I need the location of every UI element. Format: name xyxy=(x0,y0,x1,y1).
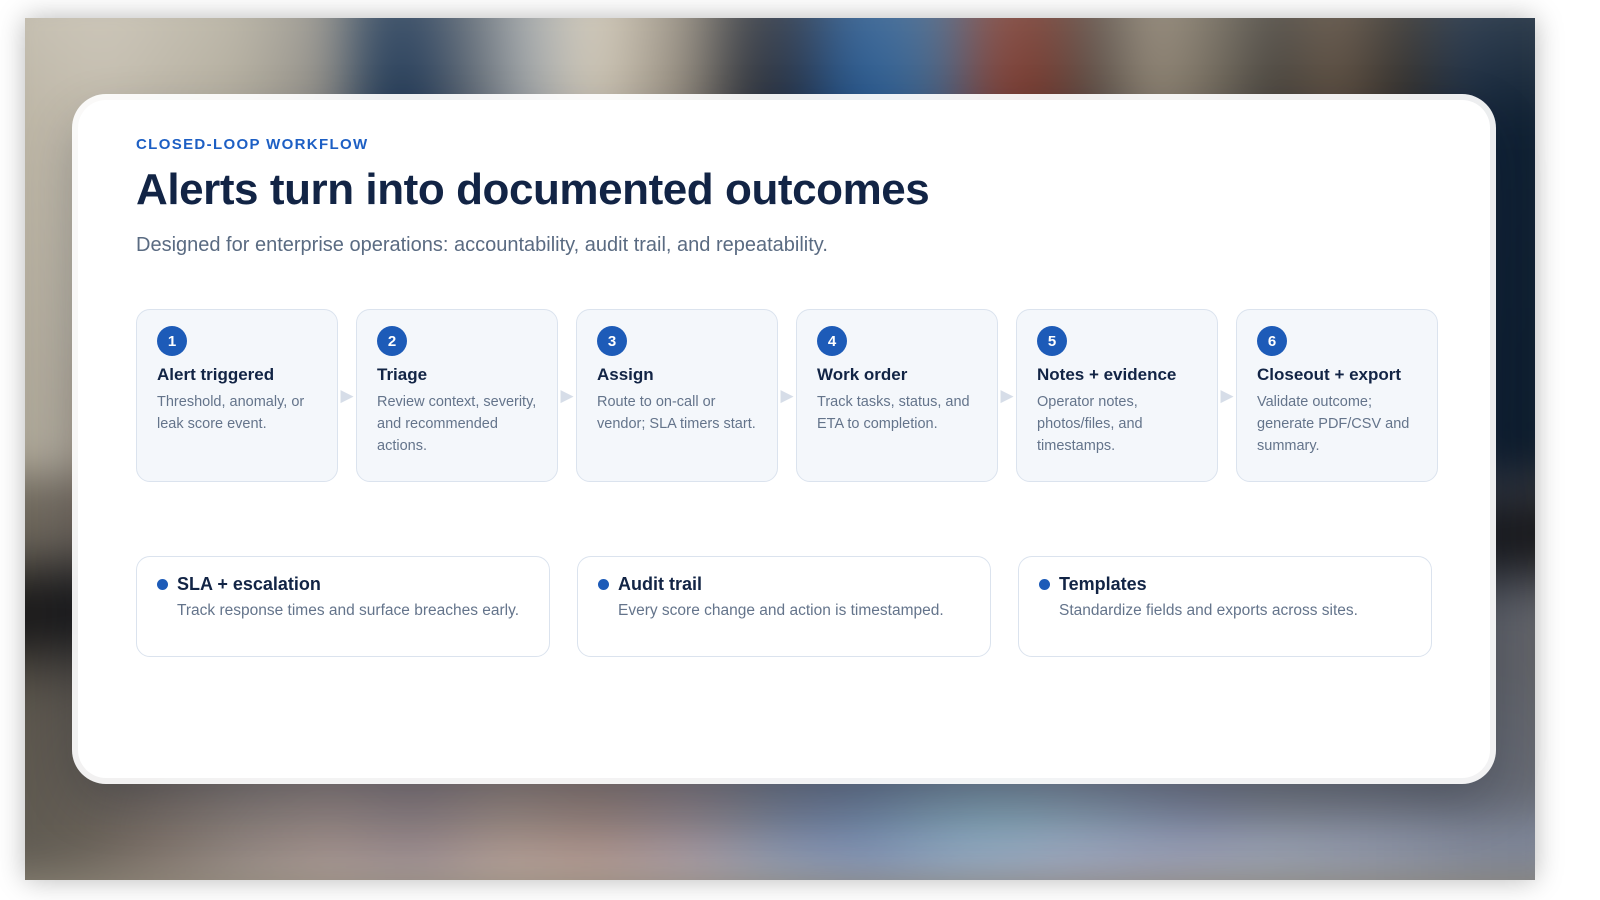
caret-right-icon: ▶ xyxy=(338,309,356,482)
step-number-badge: 3 xyxy=(597,326,627,356)
caret-right-icon: ▶ xyxy=(558,309,576,482)
step-title: Assign xyxy=(597,365,759,385)
page-title: Alerts turn into documented outcomes xyxy=(136,167,1490,214)
feature-card-row: SLA + escalation Track response times an… xyxy=(136,556,1432,657)
slide-stage: CLOSED-LOOP WORKFLOW Alerts turn into do… xyxy=(0,0,1600,900)
step-title: Closeout + export xyxy=(1257,365,1419,385)
step-title: Alert triggered xyxy=(157,365,319,385)
step-description: Route to on-call or vendor; SLA timers s… xyxy=(597,391,759,435)
step-description: Operator notes, photos/files, and timest… xyxy=(1037,391,1199,457)
feature-title-row: Templates xyxy=(1039,574,1411,595)
step-number-badge: 1 xyxy=(157,326,187,356)
feature-title: Audit trail xyxy=(618,574,702,595)
eyebrow-label: CLOSED-LOOP WORKFLOW xyxy=(136,136,1490,153)
step-card-2[interactable]: 2 Triage Review context, severity, and r… xyxy=(356,309,558,482)
step-description: Validate outcome; generate PDF/CSV and s… xyxy=(1257,391,1419,457)
feature-title-row: SLA + escalation xyxy=(157,574,529,595)
step-card-3[interactable]: 3 Assign Route to on-call or vendor; SLA… xyxy=(576,309,778,482)
feature-description: Standardize fields and exports across si… xyxy=(1059,600,1411,622)
step-number-badge: 2 xyxy=(377,326,407,356)
step-number-badge: 5 xyxy=(1037,326,1067,356)
feature-description: Track response times and surface breache… xyxy=(177,600,529,622)
caret-right-icon: ▶ xyxy=(778,309,796,482)
step-title: Triage xyxy=(377,365,539,385)
step-card-4[interactable]: 4 Work order Track tasks, status, and ET… xyxy=(796,309,998,482)
bullet-dot-icon xyxy=(157,579,168,590)
caret-right-icon: ▶ xyxy=(998,309,1016,482)
step-description: Threshold, anomaly, or leak score event. xyxy=(157,391,319,435)
step-card-6[interactable]: 6 Closeout + export Validate outcome; ge… xyxy=(1236,309,1438,482)
step-description: Track tasks, status, and ETA to completi… xyxy=(817,391,979,435)
step-card-1[interactable]: 1 Alert triggered Threshold, anomaly, or… xyxy=(136,309,338,482)
feature-title: Templates xyxy=(1059,574,1147,595)
step-title: Work order xyxy=(817,365,979,385)
step-number-badge: 6 xyxy=(1257,326,1287,356)
feature-title-row: Audit trail xyxy=(598,574,970,595)
caret-right-icon: ▶ xyxy=(1218,309,1236,482)
feature-description: Every score change and action is timesta… xyxy=(618,600,970,622)
feature-title: SLA + escalation xyxy=(177,574,321,595)
feature-card-templates[interactable]: Templates Standardize fields and exports… xyxy=(1018,556,1432,657)
page-subtitle: Designed for enterprise operations: acco… xyxy=(136,232,1490,258)
step-description: Review context, severity, and recommende… xyxy=(377,391,539,457)
feature-card-audit-trail[interactable]: Audit trail Every score change and actio… xyxy=(577,556,991,657)
bullet-dot-icon xyxy=(598,579,609,590)
step-number-badge: 4 xyxy=(817,326,847,356)
feature-card-sla-escalation[interactable]: SLA + escalation Track response times an… xyxy=(136,556,550,657)
bullet-dot-icon xyxy=(1039,579,1050,590)
workflow-step-strip: 1 Alert triggered Threshold, anomaly, or… xyxy=(136,309,1438,482)
panel-header: CLOSED-LOOP WORKFLOW Alerts turn into do… xyxy=(136,136,1490,258)
step-card-5[interactable]: 5 Notes + evidence Operator notes, photo… xyxy=(1016,309,1218,482)
step-title: Notes + evidence xyxy=(1037,365,1199,385)
